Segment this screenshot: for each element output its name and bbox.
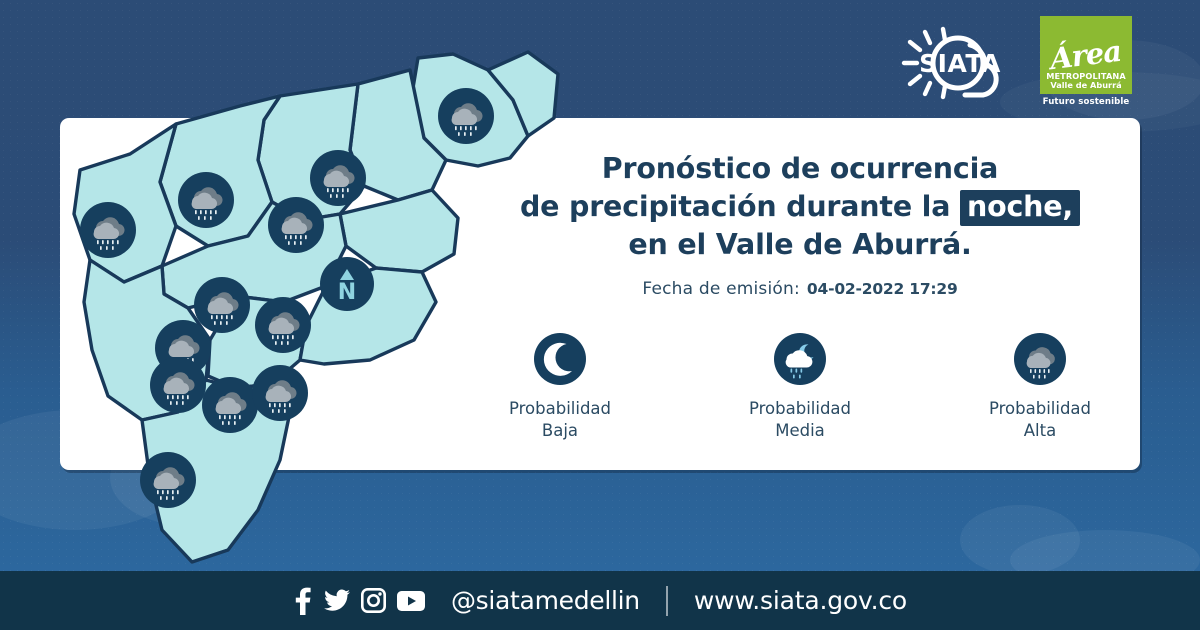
cloud-heavy-rain-icon [1014,333,1066,385]
legend-media-line2: Media [749,420,851,442]
marker-envigado[interactable] [252,365,308,421]
area-metropolitana-tagline: Futuro sostenible [1040,97,1132,107]
marker-san-pedro[interactable] [178,172,234,228]
marker-guarne[interactable] [255,297,311,353]
legend-item-baja: Probabilidad Baja [485,333,635,443]
marker-san-jeronimo[interactable] [80,202,136,258]
emission-date-label: Fecha de emisión: [642,279,800,299]
siata-logo: SIATA [900,26,1030,100]
area-metropolitana-line2: Valle de Aburrá [1050,81,1121,91]
marker-barbosa[interactable] [438,88,494,144]
cloud-heavy-rain-icon [178,172,234,228]
cloud-heavy-rain-icon [202,377,258,433]
marker-medellin-sur[interactable] [202,377,258,433]
facebook-icon[interactable] [293,587,313,615]
area-metropolitana-green-box: Área METROPOLITANA Valle de Aburrá [1040,16,1132,94]
header-logos: SIATA Área METROPOLITANA Valle de Aburrá… [900,16,1140,112]
marker-caldas[interactable] [140,452,196,508]
cloud-heavy-rain-icon [438,88,494,144]
legend-alta-line2: Alta [989,420,1091,442]
marker-medellin-norte[interactable] [150,357,206,413]
probability-legend: Probabilidad Baja [470,333,1130,443]
cloud-heavy-rain-icon [255,297,311,353]
area-metropolitana-logo: Área METROPOLITANA Valle de Aburrá Futur… [1040,16,1132,112]
siata-wordmark: SIATA [919,49,1001,78]
compass-label: N [338,280,356,305]
marker-copacabana[interactable] [268,197,324,253]
cloud-heavy-rain-icon [150,357,206,413]
legend-alta-line1: Probabilidad [989,398,1091,420]
cloud-heavy-rain-icon [80,202,136,258]
footer-bar: @siatamedellin www.siata.gov.co [0,571,1200,630]
compass-north-icon: N [320,257,374,311]
legend-baja-line2: Baja [509,420,611,442]
compass-rose: N [320,257,374,311]
legend-item-media: Probabilidad Media [725,333,875,443]
cloud-heavy-rain-icon [140,452,196,508]
twitter-icon[interactable] [324,589,350,613]
cloud-heavy-rain-icon [252,365,308,421]
emission-date: Fecha de emisión: 04-02-2022 17:29 [470,279,1130,299]
footer-divider [666,586,668,616]
forecast-content: Pronóstico de ocurrencia de precipitació… [470,150,1130,443]
title-highlight-noche: noche, [960,190,1080,226]
social-handle[interactable]: @siatamedellin [451,586,640,615]
infographic-canvas: SIATA Área METROPOLITANA Valle de Aburrá… [0,0,1200,630]
youtube-icon[interactable] [397,591,425,611]
cloud-moon-rain-icon [774,333,826,385]
title-line-2-text: de precipitación durante la [520,190,950,223]
instagram-icon[interactable] [361,588,386,613]
legend-media-line1: Probabilidad [749,398,851,420]
title-line-3: en el Valle de Aburrá. [470,226,1130,264]
area-script-text: Área [1049,37,1123,74]
legend-label-media: Probabilidad Media [749,398,851,443]
title-line-2: de precipitación durante la noche, [470,188,1130,226]
legend-baja-line1: Probabilidad [509,398,611,420]
page-title: Pronóstico de ocurrencia de precipitació… [470,150,1130,263]
legend-item-alta: Probabilidad Alta [965,333,1115,443]
title-line-1: Pronóstico de ocurrencia [470,150,1130,188]
social-icons [293,587,425,615]
website-url[interactable]: www.siata.gov.co [694,586,907,615]
moon-icon [534,333,586,385]
sun-cloud-icon: SIATA [900,26,1030,100]
legend-label-alta: Probabilidad Alta [989,398,1091,443]
emission-date-value: 04-02-2022 17:29 [807,280,958,298]
cloud-heavy-rain-icon [268,197,324,253]
legend-label-baja: Probabilidad Baja [509,398,611,443]
